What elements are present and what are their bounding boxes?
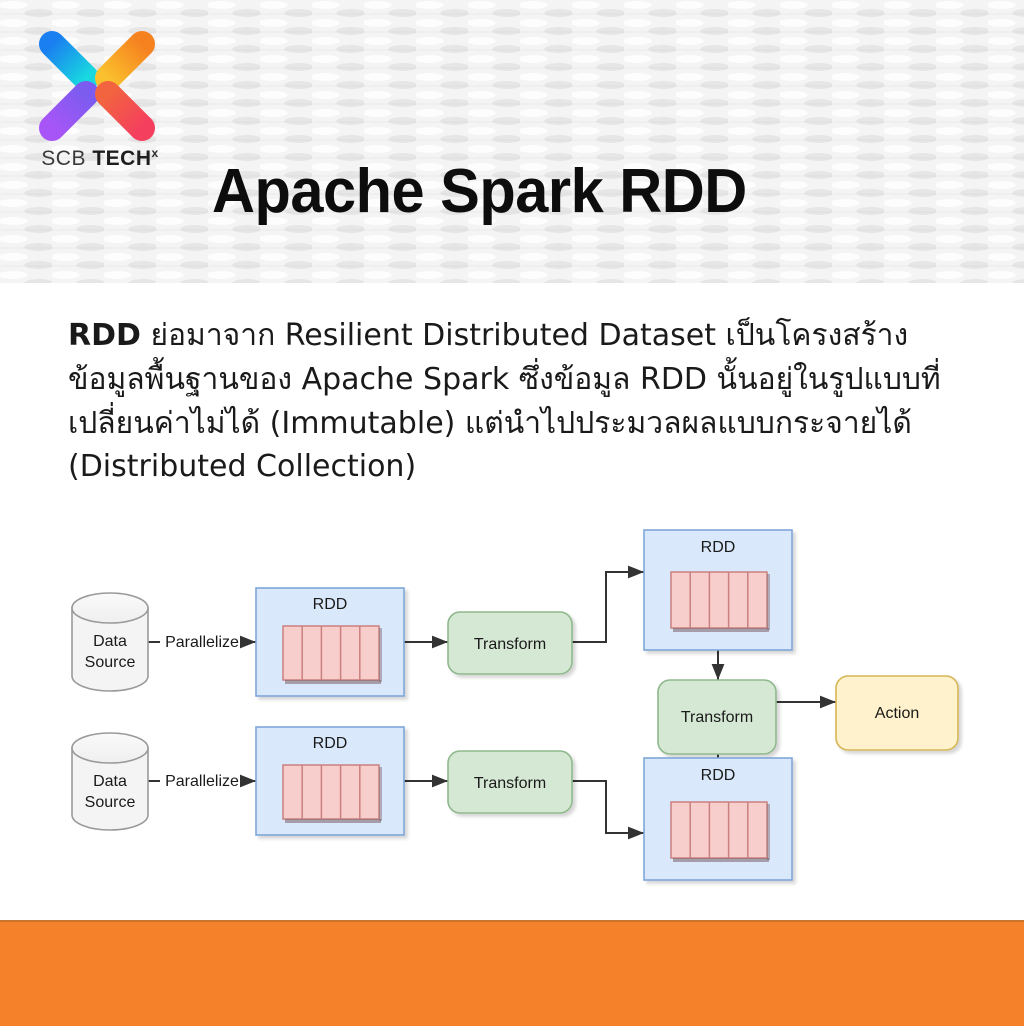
rdd-top-left-partitions: [283, 626, 382, 684]
rdd-top-left-label: RDD: [313, 596, 348, 613]
rdd-top-right-label: RDD: [701, 539, 736, 556]
rdd-flow-diagram: Data Source Parallelize RDD: [0, 510, 1024, 900]
node-transform-merge: Transform: [658, 680, 776, 754]
rdd-top-right-partitions: [671, 572, 770, 632]
node-transform-top-left: Transform: [448, 612, 572, 674]
data-source-bottom-label-line1: Data: [93, 773, 127, 790]
edge-transform-to-rdd-bottom-right: [572, 781, 644, 833]
transform-bottom-left-label: Transform: [474, 775, 546, 792]
slide-canvas: SCB TECHx Apache Spark RDD RDD ย่อมาจาก …: [0, 0, 1024, 1024]
rdd-bottom-left-label: RDD: [313, 735, 348, 752]
node-action: Action: [836, 676, 958, 750]
logo-bar-bottom-left: [52, 94, 86, 128]
node-data-source-top: Data Source: [72, 593, 148, 691]
edge-transform-to-rdd-top-right: [572, 572, 644, 642]
node-rdd-bottom-right: RDD: [644, 758, 792, 880]
logo-bar-top-right: [108, 44, 142, 78]
node-data-source-bottom: Data Source: [72, 733, 148, 830]
logo-wordmark-superscript: x: [152, 146, 159, 160]
logo-bar-top-left: [52, 44, 86, 78]
logo-bar-bottom-right: [108, 94, 142, 128]
edge-label-parallelize-bottom: Parallelize: [165, 773, 239, 790]
rdd-bottom-right-partitions: [671, 802, 770, 862]
node-rdd-top-left-body: RDD: [256, 588, 404, 696]
action-label: Action: [875, 705, 919, 722]
transform-merge-label: Transform: [681, 709, 753, 726]
body-paragraph: RDD ย่อมาจาก Resilient Distributed Datas…: [68, 314, 968, 489]
page-title: Apache Spark RDD: [212, 156, 747, 227]
node-rdd-top-right: RDD: [644, 530, 792, 650]
rdd-flow-svg: Data Source Parallelize RDD: [0, 510, 1024, 900]
transform-top-left-label: Transform: [474, 636, 546, 653]
node-rdd-bottom-left: RDD: [256, 727, 404, 835]
scb-techx-logo: SCB TECHx: [28, 28, 172, 178]
logo-wordmark-tech: TECH: [92, 147, 151, 170]
logo-wordmark: SCB TECHx: [28, 146, 172, 171]
logo-wordmark-scb: SCB: [41, 147, 86, 170]
rdd-bottom-right-label: RDD: [701, 767, 736, 784]
node-transform-bottom-left: Transform: [448, 751, 572, 813]
body-paragraph-text: ย่อมาจาก Resilient Distributed Dataset เ…: [68, 318, 941, 484]
data-source-top-label-line1: Data: [93, 633, 127, 650]
rdd-bottom-left-partitions: [283, 765, 382, 823]
x-logo-icon: [28, 28, 172, 146]
footer-orange-bar: [0, 920, 1024, 1026]
edge-label-parallelize-top: Parallelize: [165, 634, 239, 651]
body-lead-term: RDD: [68, 318, 141, 353]
data-source-top-label-line2: Source: [85, 654, 136, 671]
data-source-bottom-label-line2: Source: [85, 794, 136, 811]
